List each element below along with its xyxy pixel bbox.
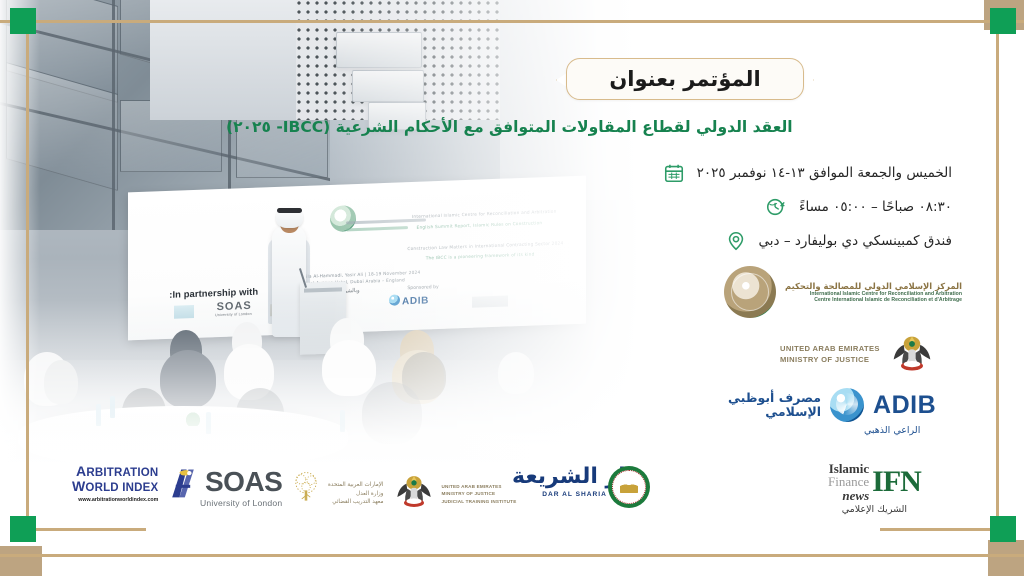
- logo-islamic-finance-news: IFN Islamic Finance news الشريك الإعلامي: [828, 462, 921, 515]
- ifn-wordmark: Islamic Finance news: [828, 462, 869, 502]
- jti-en-line-3: JUDICIAL TRAINING INSTITUTE: [441, 498, 516, 505]
- frame-line-bottom: [0, 554, 1024, 557]
- conference-photo: International Islamic Centre for Reconci…: [0, 0, 640, 470]
- logo-judicial-training-institute: UNITED ARAB EMIRATES MINISTRY OF JUSTICE…: [328, 472, 516, 516]
- moj-text: UNITED ARAB EMIRATES MINISTRY OF JUSTICE: [780, 343, 880, 365]
- awi-text: ARBITRATION WORLD INDEX: [72, 464, 158, 495]
- speaker-agal: [277, 208, 302, 213]
- iicra-english-name-2: Centre International Islamic de Reconcil…: [785, 297, 962, 303]
- adib-ball-icon: [830, 388, 864, 422]
- awi-line-2-mid: ORLD: [85, 482, 122, 494]
- conference-banner-canvas: International Islamic Centre for Reconci…: [0, 0, 1024, 576]
- awi-line-1-rest: RBITRATION: [86, 467, 158, 479]
- detail-row-time: ٠٨:٣٠ صباحًا – ٠٥:٠٠ مساءً: [765, 196, 952, 218]
- uae-falcon-emblem-icon: [890, 332, 934, 376]
- soas-wordmark: SOAS: [200, 466, 282, 498]
- logo-soas: SOAS University of London: [200, 466, 323, 508]
- adib-sponsor-label: الراعي الذهبي: [864, 425, 936, 436]
- awi-line-2-cap: W: [72, 478, 85, 494]
- awi-line-1-cap: A: [76, 463, 86, 479]
- iicra-text: المركز الإسلامي الدولي للمصالحة والتحكيم…: [785, 281, 962, 304]
- adib-arabic-line-1: مصرف أبوظبي: [728, 391, 821, 405]
- moj-line-2: MINISTRY OF JUSTICE: [780, 354, 880, 365]
- detail-venue-text: فندق كمبينسكي دي بوليفارد – دبي: [759, 233, 953, 249]
- decor-square-top-left: [10, 8, 36, 34]
- jti-ar-line-2: وزارة العدل: [328, 490, 383, 499]
- location-pin-icon: [725, 230, 747, 252]
- partner-logo-strip: ARBITRATION WORLD INDEX www.arbitrationw…: [0, 452, 1024, 538]
- ifn-word-3: news: [828, 489, 869, 502]
- iicra-globe-icon: [724, 266, 776, 318]
- gcc-seal-icon: [608, 466, 650, 508]
- corner-block-bottom-left: [0, 546, 42, 576]
- corner-block-bottom-right: [988, 540, 1024, 576]
- jti-english-text: UNITED ARAB EMIRATES MINISTRY OF JUSTICE…: [441, 483, 516, 505]
- ifn-role-label: الشريك الإعلامي: [842, 504, 907, 515]
- dar-al-sharia-english: DAR AL SHARIA: [542, 491, 607, 498]
- screen-in-partnership-label: In partnership with:: [169, 285, 258, 299]
- awi-url[interactable]: www.arbitrationworldindex.com: [72, 497, 158, 503]
- calendar-icon: [663, 162, 685, 184]
- jti-ar-line-1: الإمارات العربية المتحدة: [328, 481, 383, 490]
- jti-en-line-1: UNITED ARAB EMIRATES: [441, 483, 516, 490]
- ifn-word-1: Islamic: [828, 462, 869, 475]
- jti-falcon-emblem-icon: [390, 472, 434, 516]
- iicra-arabic-name: المركز الإسلامي الدولي للمصالحة والتحكيم: [785, 281, 962, 291]
- soas-tree-icon: [289, 470, 323, 504]
- jti-en-line-2: MINISTRY OF JUSTICE: [441, 490, 516, 497]
- moj-line-1: UNITED ARAB EMIRATES: [780, 343, 880, 354]
- page-title-text: العقد الدولي لقطاع المقاولات المتوافق مع…: [226, 118, 793, 136]
- awi-line-2: WORLD INDEX: [72, 479, 158, 494]
- ifn-word-2: Finance: [828, 475, 869, 488]
- awi-line-2-rest: NDEX: [126, 482, 159, 494]
- conference-title-banner: المؤتمر بعنوان: [566, 58, 804, 100]
- frame-line-top: [0, 20, 1024, 23]
- detail-date-text: الخميس والجمعة الموافق ١٣-١٤ نوفمبر ٢٠٢٥: [697, 165, 952, 181]
- logo-arbitration-world-index: ARBITRATION WORLD INDEX www.arbitrationw…: [72, 464, 201, 503]
- adib-arabic-line-2: الإسلامي: [728, 405, 821, 419]
- page-title: العقد الدولي لقطاع المقاولات المتوافق مع…: [226, 118, 926, 136]
- photo-fade-left: [0, 0, 40, 470]
- adib-wordmark: ADIB: [873, 391, 936, 420]
- banner-label: المؤتمر بعنوان: [566, 58, 804, 100]
- logo-gcc-arbitration-centre: [608, 466, 650, 508]
- ifn-mark: IFN: [872, 465, 921, 499]
- decor-square-top-right: [990, 8, 1016, 34]
- detail-row-date: الخميس والجمعة الموافق ١٣-١٤ نوفمبر ٢٠٢٥: [663, 162, 952, 184]
- jti-ar-line-3: معهد التدريب القضائي: [328, 498, 383, 507]
- detail-row-venue: فندق كمبينسكي دي بوليفارد – دبي: [725, 230, 953, 252]
- detail-time-text: ٠٨:٣٠ صباحًا – ٠٥:٠٠ مساءً: [799, 199, 952, 215]
- adib-arabic-name: مصرف أبوظبي الإسلامي: [728, 391, 821, 420]
- soas-subtitle: University of London: [200, 498, 282, 508]
- logo-iicra: المركز الإسلامي الدولي للمصالحة والتحكيم…: [724, 266, 962, 318]
- jti-arabic-text: الإمارات العربية المتحدة وزارة العدل معه…: [328, 481, 383, 508]
- clock-icon: [765, 196, 787, 218]
- logo-uae-ministry-of-justice: UNITED ARAB EMIRATES MINISTRY OF JUSTICE: [780, 332, 934, 376]
- logo-adib: ADIB مصرف أبوظبي الإسلامي الراعي الذهبي: [728, 388, 936, 436]
- awi-monogram-icon: [165, 465, 201, 501]
- awi-line-1: ARBITRATION: [72, 464, 158, 479]
